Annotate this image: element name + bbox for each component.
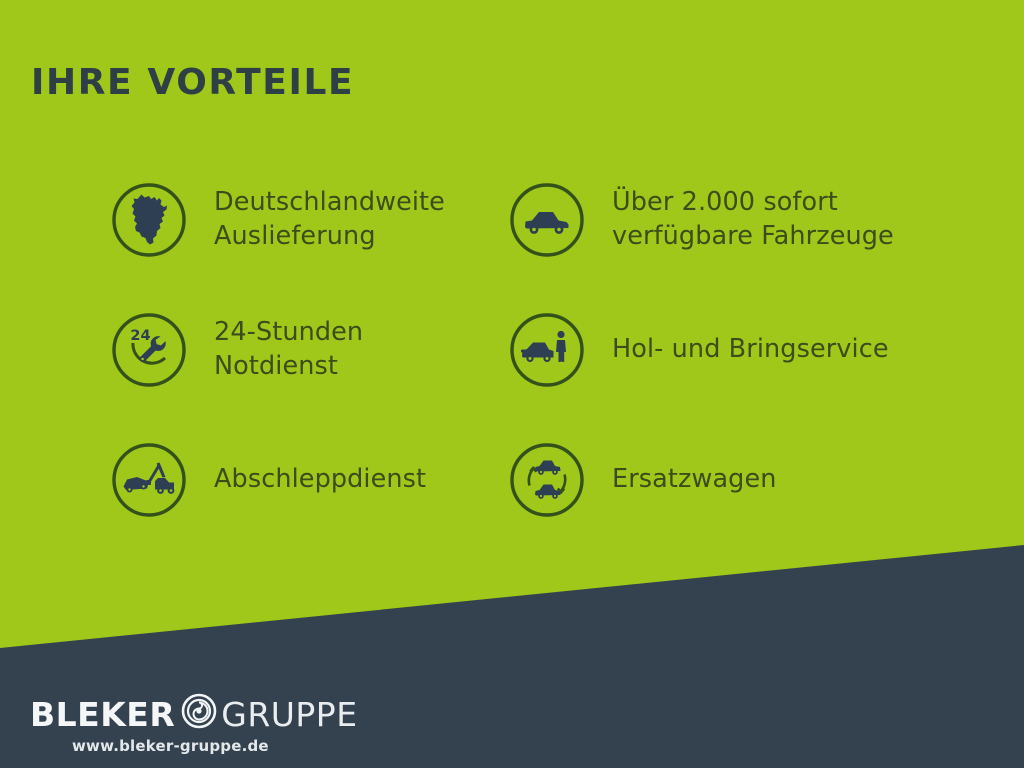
benefit-label: Abschleppdienst	[214, 463, 426, 497]
replacement-car-cycle-icon	[508, 441, 586, 519]
svg-text:24: 24	[130, 328, 150, 344]
benefit-label: Ersatzwagen	[612, 463, 777, 497]
benefit-item-ersatzwagen: Ersatzwagen	[508, 415, 948, 545]
germany-map-icon	[110, 181, 188, 259]
benefits-right-column: Über 2.000 sofort verfügbare Fahrzeuge	[508, 155, 948, 545]
company-logo: BLEKER GRUPPE www.bleker-gruppe.de	[30, 694, 360, 755]
logo-website-url: www.bleker-gruppe.de	[72, 737, 360, 755]
page-title: IHRE VORTEILE	[31, 63, 354, 103]
logo-name-bold: BLEKER	[30, 695, 175, 734]
slide-root: IHRE VORTEILE Deutschlandweite Ausliefer…	[0, 0, 1024, 768]
clock-wrench-24h-icon: 24	[110, 311, 188, 389]
benefit-item-abschleppdienst: Abschleppdienst	[110, 415, 510, 545]
logo-wordmark-row: BLEKER GRUPPE	[30, 694, 360, 734]
tow-truck-icon	[110, 441, 188, 519]
benefit-item-24-stunden-notdienst: 24 24-Stunden Notdienst	[110, 285, 510, 415]
bleker-circle-mark-icon	[178, 690, 220, 732]
car-icon	[508, 181, 586, 259]
benefit-label: Hol- und Bringservice	[612, 333, 889, 367]
car-with-person-icon	[508, 311, 586, 389]
logo-name-light: GRUPPE	[221, 695, 357, 734]
benefit-item-hol-und-bringservice: Hol- und Bringservice	[508, 285, 948, 415]
benefit-label: 24-Stunden Notdienst	[214, 316, 363, 383]
benefit-item-verfuegbare-fahrzeuge: Über 2.000 sofort verfügbare Fahrzeuge	[508, 155, 948, 285]
benefits-left-column: Deutschlandweite Auslieferung 24 24-Stun…	[110, 155, 510, 545]
benefit-label: Deutschlandweite Auslieferung	[214, 186, 445, 253]
benefit-item-deutschlandweite-auslieferung: Deutschlandweite Auslieferung	[110, 155, 510, 285]
benefit-label: Über 2.000 sofort verfügbare Fahrzeuge	[612, 186, 894, 253]
